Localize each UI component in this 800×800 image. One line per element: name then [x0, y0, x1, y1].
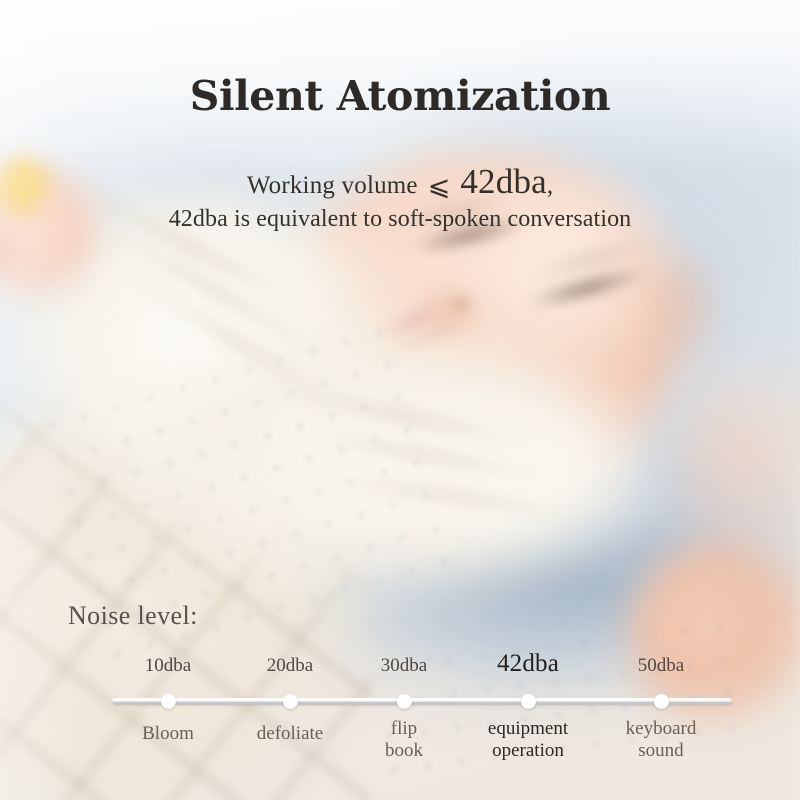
scale-caption-1: defoliate	[257, 723, 323, 745]
subtitle-comma: ,	[547, 172, 553, 199]
scale-caption-line: operation	[488, 740, 568, 762]
scale-value-2: 30dba	[381, 655, 427, 677]
scale-value-4: 50dba	[638, 655, 684, 677]
slider-tick-2[interactable]	[397, 694, 412, 709]
page-title: Silent Atomization	[0, 72, 800, 120]
slider-tick-0[interactable]	[161, 694, 176, 709]
subtitle-value: 42dba	[460, 162, 547, 201]
scale-caption-line: flip	[385, 718, 423, 740]
noise-level-label: Noise level:	[68, 601, 198, 631]
less-than-or-equal-icon: ⩽	[418, 171, 461, 201]
scale-caption-0: Bloom	[142, 723, 194, 745]
scale-value-0: 10dba	[145, 655, 191, 677]
scale-caption-line: equipment	[488, 718, 568, 740]
scale-caption-line: Bloom	[142, 723, 194, 745]
scale-caption-2: flipbook	[385, 718, 423, 762]
scale-caption-line: defoliate	[257, 723, 323, 745]
scale-caption-line: keyboard	[626, 718, 697, 740]
slider-tick-4[interactable]	[654, 694, 669, 709]
slider-track[interactable]	[112, 698, 732, 705]
product-infographic: Silent Atomization Working volume⩽42dba,…	[0, 0, 800, 800]
scale-caption-line: book	[385, 740, 423, 762]
scale-caption-line: sound	[626, 740, 697, 762]
scale-caption-4: keyboardsound	[626, 718, 697, 762]
slider-tick-3[interactable]	[521, 694, 536, 709]
subtitle-line-1: Working volume⩽42dba,	[0, 162, 800, 202]
subtitle-line-2: 42dba is equivalent to soft-spoken conve…	[0, 206, 800, 233]
subtitle-prefix: Working volume	[247, 172, 418, 199]
scale-caption-3: equipmentoperation	[488, 718, 568, 762]
slider-tick-1[interactable]	[283, 694, 298, 709]
scale-value-1: 20dba	[267, 655, 313, 677]
scale-value-3: 42dba	[497, 650, 559, 678]
noise-level-slider[interactable]: 10dbaBloom20dbadefoliate30dbaflipbook42d…	[0, 655, 800, 785]
